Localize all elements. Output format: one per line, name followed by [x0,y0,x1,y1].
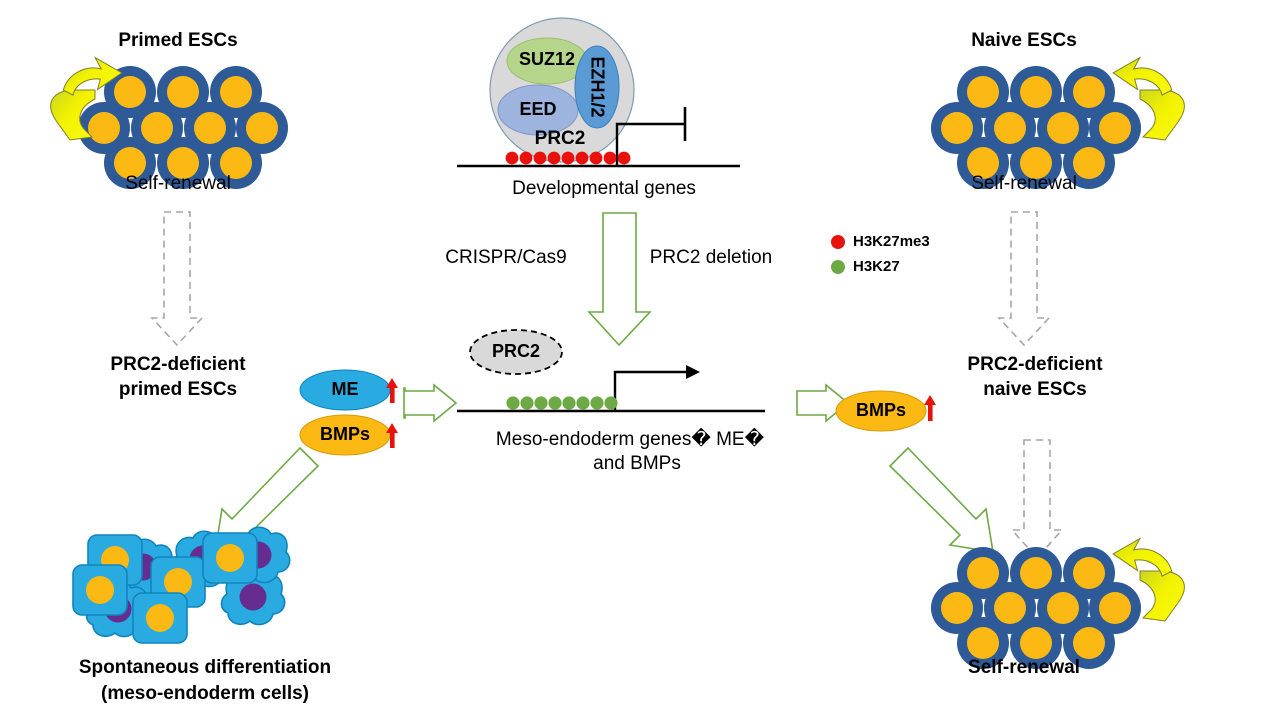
left-top-caption: Self-renewal [125,173,231,195]
suz12-label: SUZ12 [519,49,575,70]
legend-dot-h3k27 [831,260,845,274]
green-arrow-left [404,385,456,421]
badge-bmps-left-label: BMPs [320,424,370,445]
crispr-cas9-label: CRISPR/Cas9 [445,247,566,269]
legend-label-h3k27me3: H3K27me3 [853,233,930,250]
badge-me-label: ME [332,379,359,400]
naive-esc-cluster [931,66,1141,189]
green-arrow-right-diagonal [890,448,993,552]
ezh-label-wrap: EZH1/2 [587,56,608,117]
tss-arrow [615,365,700,411]
developmental-genes-label: Developmental genes [512,178,696,200]
naive-escs-title: Naive ESCs [971,30,1077,52]
primed-esc-cluster [78,66,288,189]
green-arrow-center-down [589,213,650,345]
prc2-deficient-naive-line1: PRC2-deficient [967,352,1102,377]
prc2-deficient-primed-line1: PRC2-deficient [110,352,245,377]
h3k27-marks [506,396,617,409]
dashed-arrow-left [152,212,202,345]
differentiated-cell-cluster [73,527,290,643]
diagram-canvas: Primed ESCs Self-renewal PRC2-deficient … [0,0,1279,720]
legend-dot-h3k27me3 [831,235,845,249]
prc2-label: PRC2 [535,128,586,150]
eed-label: EED [519,99,556,120]
dashed-arrow-right [999,212,1049,345]
prc2-deletion-label: PRC2 deletion [650,247,773,269]
right-bottom-caption: Self-renewal [968,655,1080,681]
naive-esc-cluster-bottom [931,547,1141,669]
badge-bmps-right-label: BMPs [856,400,906,421]
spontaneous-differentiation-line2: (meso-endoderm cells) [101,681,309,707]
primed-escs-title: Primed ESCs [118,30,237,52]
right-top-caption: Self-renewal [971,173,1077,195]
prc2-deficient-naive-line2: naive ESCs [983,377,1087,402]
prc2-deleted-label: PRC2 [492,341,540,362]
prc2-deficient-primed-line2: primed ESCs [119,377,237,402]
dashed-arrow-right-lower [1012,440,1062,558]
h3k27me3-marks [506,152,631,165]
ezh-label: EZH1/2 [588,56,608,117]
spontaneous-differentiation-line1: Spontaneous differentiation [79,655,331,681]
meso-endoderm-genes-line2: and BMPs [593,453,681,475]
meso-endoderm-genes-line1: Meso-endoderm genes� ME� [496,428,764,451]
legend-label-h3k27: H3K27 [853,258,900,275]
